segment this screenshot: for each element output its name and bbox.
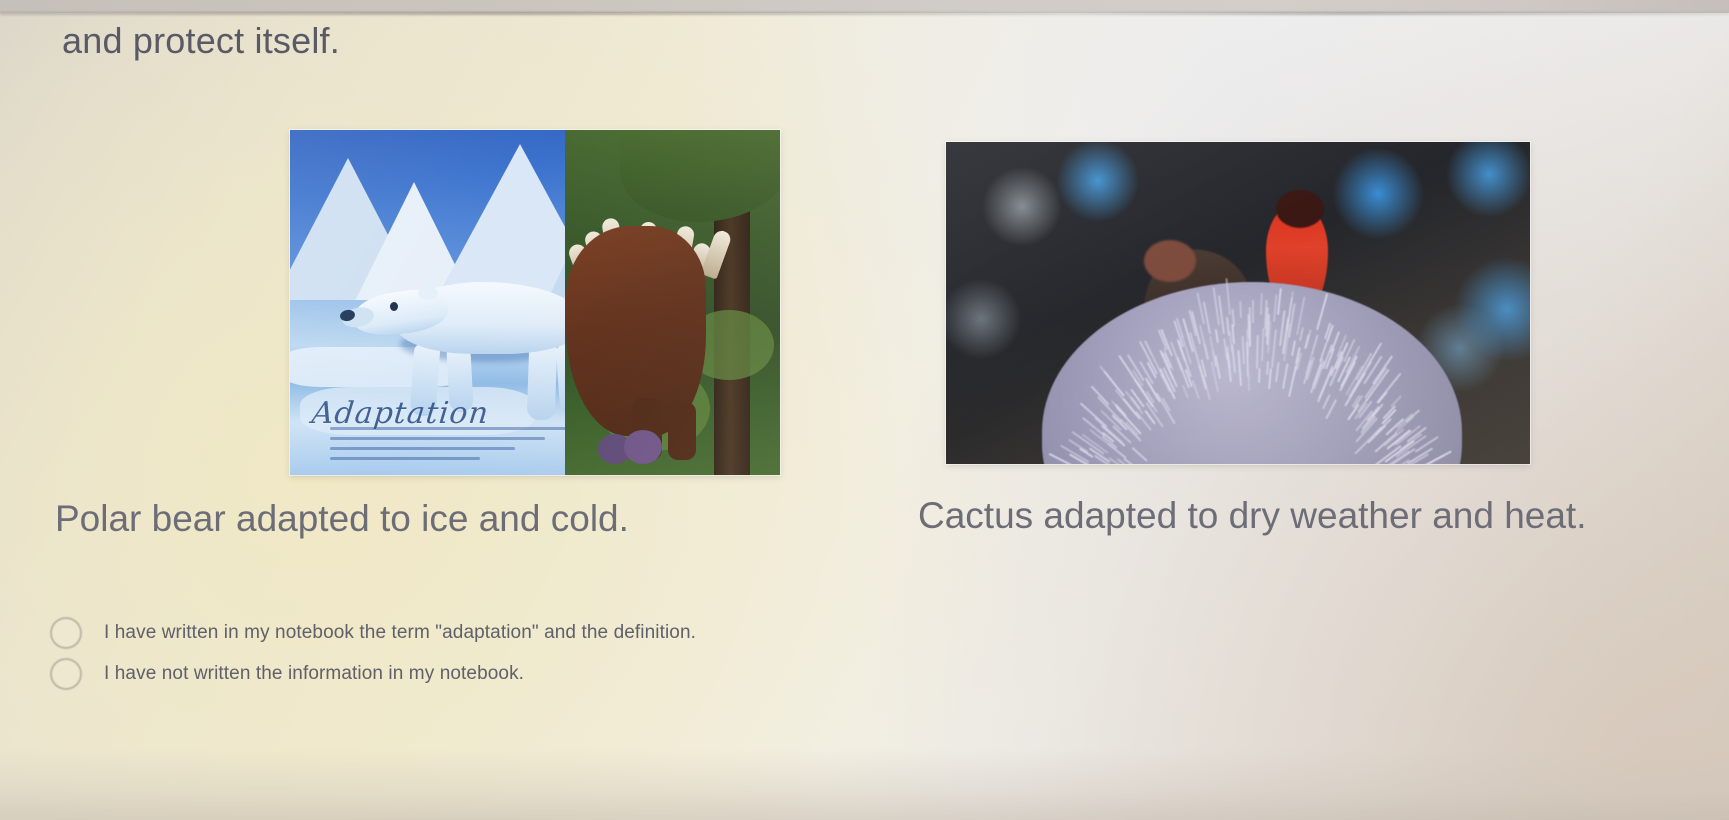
adaptation-script-text: Adaptation [310, 396, 491, 431]
cactus-bird-figure-image [946, 142, 1530, 464]
red-finch-head [1276, 190, 1324, 228]
option-row-not-written[interactable]: I have not written the information in my… [50, 653, 950, 694]
polar-bear-figure-image: Adaptation [290, 130, 780, 475]
berry-cluster [598, 430, 654, 469]
cactus-caption: Cactus adapted to dry weather and heat. [918, 490, 1729, 541]
polar-bear-ear [418, 286, 438, 300]
polar-bear-eye [390, 302, 398, 311]
answer-options-group: I have written in my notebook the term "… [50, 612, 950, 694]
top-divider-line [0, 12, 1729, 15]
lead-paragraph-text: and protect itself. [62, 20, 340, 62]
option-label: I have not written the information in my… [104, 663, 524, 685]
option-label: I have written in my notebook the term "… [104, 622, 696, 644]
polar-bear-caption: Polar bear adapted to ice and cold. [55, 493, 629, 544]
radio-button-icon[interactable] [50, 658, 82, 690]
option-row-written[interactable]: I have written in my notebook the term "… [50, 612, 950, 653]
radio-button-icon[interactable] [50, 617, 82, 649]
polar-bear-leg [527, 342, 558, 421]
brown-finch-head [1144, 240, 1196, 282]
brown-bear-leg [668, 402, 696, 460]
